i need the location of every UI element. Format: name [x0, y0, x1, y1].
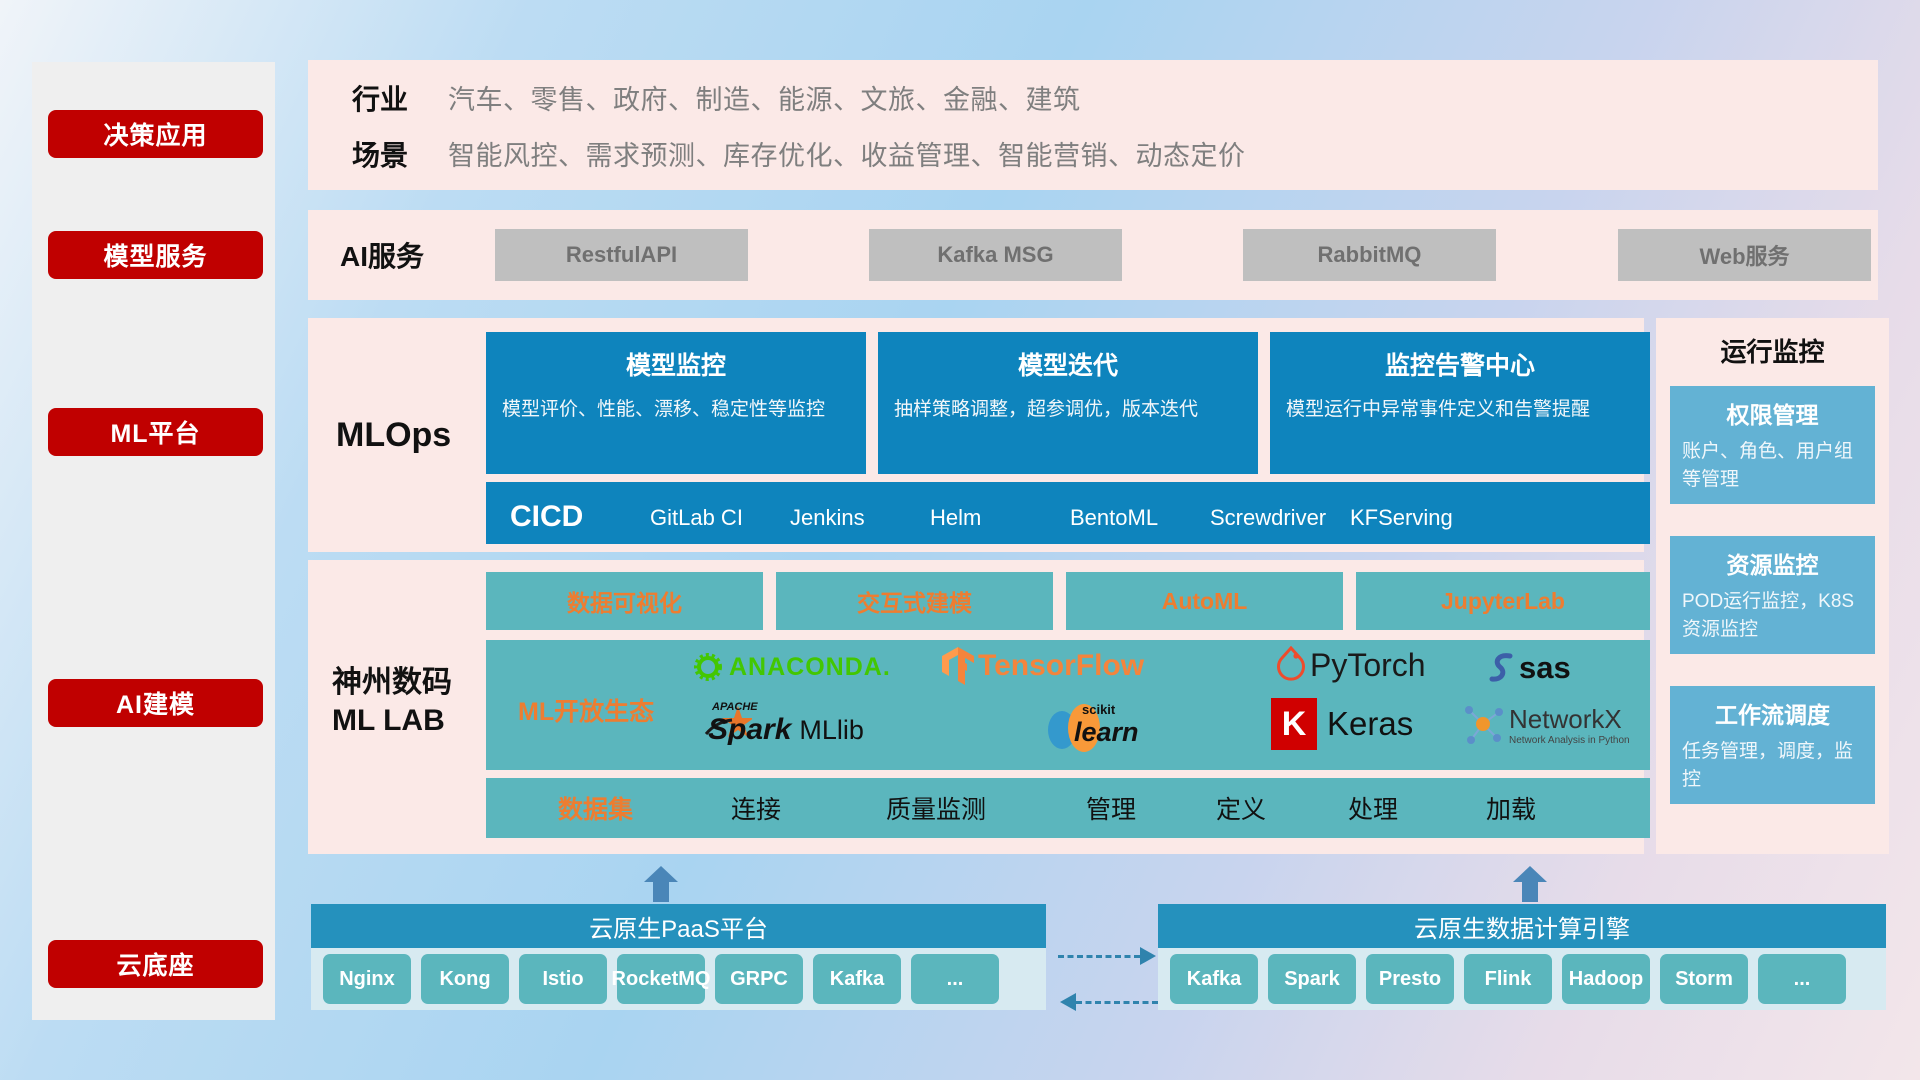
dataset-item-define[interactable]: 定义	[1216, 790, 1266, 826]
engine-chip-storm[interactable]: Storm	[1660, 954, 1748, 1004]
tensorflow-icon	[941, 646, 975, 686]
engine-chip-flink[interactable]: Flink	[1464, 954, 1552, 1004]
rail-item-ml-platform[interactable]: ML平台	[48, 408, 263, 456]
anaconda-icon	[691, 650, 725, 684]
paas-chip-kong[interactable]: Kong	[421, 954, 509, 1004]
cicd-item-jenkins[interactable]: Jenkins	[790, 504, 930, 532]
dataset-head: 数据集	[558, 790, 633, 826]
cicd-item-kfserving[interactable]: KFServing	[1350, 504, 1490, 532]
monitoring-card-permission[interactable]: 权限管理 账户、角色、用户组等管理	[1670, 386, 1875, 504]
paas-chip-nginx[interactable]: Nginx	[323, 954, 411, 1004]
mllib-wordmark: MLlib	[799, 715, 864, 746]
ml-lab-tab-jupyterlab[interactable]: JupyterLab	[1356, 572, 1650, 630]
cicd-item-screwdriver[interactable]: Screwdriver	[1210, 504, 1350, 532]
rail-item-model-service[interactable]: 模型服务	[48, 231, 263, 279]
card-title: 资源监控	[1670, 546, 1875, 580]
ml-lab-label: 神州数码 ML LAB	[332, 664, 452, 739]
paas-group: 云原生PaaS平台 Nginx Kong Istio RocketMQ GRPC…	[311, 904, 1046, 1012]
industry-value: 汽车、零售、政府、制造、能源、文旅、金融、建筑	[448, 78, 1081, 117]
ml-lab-tab-data-visualization[interactable]: 数据可视化	[486, 572, 763, 630]
spark-wordmark: Spark	[708, 713, 791, 746]
spark-mllib-logo: APACHE Spark MLlib	[704, 704, 864, 756]
card-title: 模型迭代	[878, 346, 1258, 382]
ai-service-chip-web-service[interactable]: Web服务	[1618, 229, 1871, 281]
mlops-card-model-monitor[interactable]: 模型监控 模型评价、性能、漂移、稳定性等监控	[486, 332, 866, 474]
card-title: 权限管理	[1670, 396, 1875, 430]
rail-item-decision-app[interactable]: 决策应用	[48, 110, 263, 158]
cicd-title: CICD	[510, 500, 650, 534]
arrow-engine-to-paas	[1058, 1001, 1158, 1003]
dataset-item-connect[interactable]: 连接	[731, 790, 781, 826]
ai-service-chip-kafka-msg[interactable]: Kafka MSG	[869, 229, 1122, 281]
engine-group: 云原生数据计算引擎 Kafka Spark Presto Flink Hadoo…	[1158, 904, 1886, 1012]
pytorch-logo: PyTorch	[1276, 646, 1426, 684]
card-desc: 模型运行中异常事件定义和告警提醒	[1286, 396, 1634, 425]
engine-chip-spark[interactable]: Spark	[1268, 954, 1356, 1004]
decision-app-panel: 行业 汽车、零售、政府、制造、能源、文旅、金融、建筑 场景 智能风控、需求预测、…	[308, 60, 1878, 190]
card-desc: POD运行监控，K8S资源监控	[1682, 588, 1863, 643]
card-desc: 模型评价、性能、漂移、稳定性等监控	[502, 396, 850, 425]
keras-wordmark: Keras	[1327, 705, 1413, 743]
cicd-bar: CICD GitLab CI Jenkins Helm BentoML Scre…	[486, 482, 1650, 544]
engine-chip-hadoop[interactable]: Hadoop	[1562, 954, 1650, 1004]
cicd-item-bentoml[interactable]: BentoML	[1070, 504, 1210, 532]
ml-lab-label-line2: ML LAB	[332, 702, 452, 740]
paas-chip-rocketmq[interactable]: RocketMQ	[617, 954, 705, 1004]
monitoring-card-resource[interactable]: 资源监控 POD运行监控，K8S资源监控	[1670, 536, 1875, 654]
card-title: 模型监控	[486, 346, 866, 382]
paas-chip-kafka[interactable]: Kafka	[813, 954, 901, 1004]
scikit-tag: scikit	[1082, 702, 1139, 717]
networkx-icon	[1461, 702, 1505, 748]
left-rail	[32, 62, 275, 1020]
keras-mark: K	[1282, 705, 1307, 744]
arrow-up-engine	[1513, 866, 1547, 902]
dataset-item-quality[interactable]: 质量监测	[886, 790, 986, 826]
rail-item-ai-modeling[interactable]: AI建模	[48, 679, 263, 727]
tensorflow-logo: TensorFlow	[941, 646, 1144, 686]
arrow-paas-to-engine	[1058, 955, 1158, 957]
card-desc: 抽样策略调整，超参调优，版本迭代	[894, 396, 1242, 425]
sas-icon	[1486, 651, 1518, 685]
ai-service-chip-restfulapi[interactable]: RestfulAPI	[495, 229, 748, 281]
pytorch-icon	[1276, 646, 1306, 684]
spark-apache-tag: APACHE	[712, 701, 758, 713]
engine-chip-presto[interactable]: Presto	[1366, 954, 1454, 1004]
ai-service-label: AI服务	[340, 210, 424, 300]
paas-chip-grpc[interactable]: GRPC	[715, 954, 803, 1004]
dataset-item-manage[interactable]: 管理	[1086, 790, 1136, 826]
paas-title: 云原生PaaS平台	[311, 904, 1046, 948]
card-title: 工作流调度	[1670, 696, 1875, 730]
card-desc: 账户、角色、用户组等管理	[1682, 438, 1863, 493]
ml-lab-label-line1: 神州数码	[332, 664, 452, 702]
cicd-item-gitlab-ci[interactable]: GitLab CI	[650, 504, 790, 532]
learn-wordmark: learn	[1074, 717, 1139, 747]
architecture-diagram: 决策应用 模型服务 ML平台 AI建模 云底座 行业 汽车、零售、政府、制造、能…	[0, 0, 1920, 1080]
keras-logo: K Keras	[1271, 698, 1413, 750]
keras-icon: K	[1271, 698, 1317, 750]
engine-chip-kafka[interactable]: Kafka	[1170, 954, 1258, 1004]
mlops-card-model-iteration[interactable]: 模型迭代 抽样策略调整，超参调优，版本迭代	[878, 332, 1258, 474]
networkx-logo: NetworkX Network Analysis in Python	[1461, 702, 1630, 748]
scenario-value: 智能风控、需求预测、库存优化、收益管理、智能营销、动态定价	[448, 134, 1246, 173]
ml-lab-panel: 神州数码 ML LAB 数据可视化 交互式建模 AutoML JupyterLa…	[308, 560, 1644, 854]
rail-item-cloud-base[interactable]: 云底座	[48, 940, 263, 988]
ai-service-panel: AI服务 RestfulAPI Kafka MSG RabbitMQ Web服务	[308, 210, 1878, 300]
ml-lab-tab-interactive-modeling[interactable]: 交互式建模	[776, 572, 1053, 630]
mlops-card-alert-center[interactable]: 监控告警中心 模型运行中异常事件定义和告警提醒	[1270, 332, 1650, 474]
industry-key: 行业	[352, 78, 408, 118]
mlops-panel: MLOps 模型监控 模型评价、性能、漂移、稳定性等监控 模型迭代 抽样策略调整…	[308, 318, 1644, 552]
mlops-label: MLOps	[336, 318, 451, 552]
monitoring-panel: 运行监控 权限管理 账户、角色、用户组等管理 资源监控 POD运行监控，K8S资…	[1656, 318, 1889, 854]
networkx-wordmark: NetworkX	[1509, 704, 1630, 735]
monitoring-title: 运行监控	[1656, 332, 1889, 369]
monitoring-card-workflow[interactable]: 工作流调度 任务管理，调度，监控	[1670, 686, 1875, 804]
ml-lab-tab-automl[interactable]: AutoML	[1066, 572, 1343, 630]
engine-chip-more[interactable]: ...	[1758, 954, 1846, 1004]
dataset-item-process[interactable]: 处理	[1348, 790, 1398, 826]
dataset-row: 数据集 连接 质量监测 管理 定义 处理 加载	[486, 778, 1650, 838]
ml-open-ecosystem-label: ML开放生态	[518, 692, 654, 728]
arrow-up-paas	[644, 866, 678, 902]
sas-logo: sas	[1486, 650, 1571, 686]
card-title: 监控告警中心	[1270, 346, 1650, 382]
cicd-item-helm[interactable]: Helm	[930, 504, 1070, 532]
paas-chip-more[interactable]: ...	[911, 954, 999, 1004]
engine-title: 云原生数据计算引擎	[1158, 904, 1886, 948]
ml-open-ecosystem-band: ML开放生态 ANACONDA. TensorFlow	[486, 640, 1650, 770]
dataset-item-load[interactable]: 加载	[1486, 790, 1536, 826]
scikit-learn-logo: scikit learn	[1046, 700, 1102, 758]
sas-wordmark: sas	[1519, 650, 1571, 686]
pytorch-wordmark: PyTorch	[1310, 647, 1426, 684]
anaconda-logo: ANACONDA.	[691, 650, 891, 684]
networkx-tagline: Network Analysis in Python	[1509, 735, 1630, 746]
card-desc: 任务管理，调度，监控	[1682, 738, 1863, 793]
anaconda-wordmark: ANACONDA.	[729, 653, 891, 682]
ai-service-chip-rabbitmq[interactable]: RabbitMQ	[1243, 229, 1496, 281]
paas-chip-istio[interactable]: Istio	[519, 954, 607, 1004]
tensorflow-wordmark: TensorFlow	[978, 649, 1144, 683]
engine-tray: Kafka Spark Presto Flink Hadoop Storm ..…	[1158, 948, 1886, 1010]
paas-tray: Nginx Kong Istio RocketMQ GRPC Kafka ...	[311, 948, 1046, 1010]
scenario-key: 场景	[352, 134, 408, 174]
